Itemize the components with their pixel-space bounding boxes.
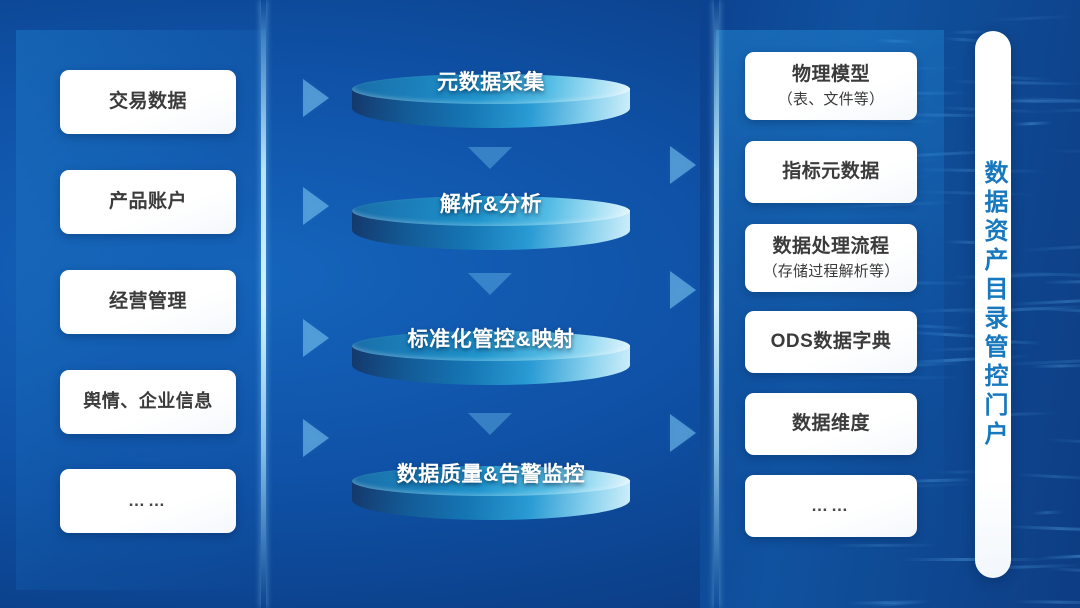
source-card-product-account[interactable]: 产品账户 <box>60 170 236 234</box>
source-card-public-opinion-enterprise-info[interactable]: 舆情、企业信息 <box>60 370 236 434</box>
pipeline-stage-parse-analyze[interactable]: 解析&分析 <box>352 196 630 252</box>
asset-card-title: 数据维度 <box>792 412 870 436</box>
arrow-right-icon <box>303 419 329 457</box>
asset-card-title: …… <box>811 495 851 517</box>
source-card-transaction-data[interactable]: 交易数据 <box>60 70 236 134</box>
asset-card-title: 物理模型 <box>792 63 870 87</box>
asset-card-title: 指标元数据 <box>782 160 880 184</box>
asset-card-title: ODS数据字典 <box>771 330 892 354</box>
arrow-right-icon <box>303 79 329 117</box>
asset-card-data-dimension[interactable]: 数据维度 <box>745 393 917 455</box>
pipeline-stage-label: 标准化管控&映射 <box>352 323 630 353</box>
asset-card-physical-model[interactable]: 物理模型 （表、文件等） <box>745 52 917 120</box>
diagram-canvas: 交易数据 产品账户 经营管理 舆情、企业信息 …… 元数据采集 解析&分析 标准… <box>0 0 1080 608</box>
pipeline-stage-label: 解析&分析 <box>352 188 630 218</box>
divider-rail-right <box>714 0 719 608</box>
source-card-title: 产品账户 <box>109 190 187 214</box>
pipeline-stage-metadata-collection[interactable]: 元数据采集 <box>352 74 630 130</box>
source-card-title: …… <box>128 490 168 512</box>
pipeline-stage-label: 元数据采集 <box>352 66 630 96</box>
asset-card-title: 数据处理流程 <box>772 235 889 259</box>
arrow-down-icon <box>468 147 512 169</box>
pipeline-stage-data-quality-alert-monitoring[interactable]: 数据质量&告警监控 <box>352 466 630 522</box>
asset-card-ods-data-dictionary[interactable]: ODS数据字典 <box>745 311 917 373</box>
arrow-right-icon <box>670 146 696 184</box>
source-card-title: 交易数据 <box>109 90 187 114</box>
arrow-right-icon <box>303 319 329 357</box>
asset-card-data-processing-flow[interactable]: 数据处理流程 （存储过程解析等） <box>745 224 917 292</box>
arrow-down-icon <box>468 273 512 295</box>
pipeline-stage-standardization-mapping[interactable]: 标准化管控&映射 <box>352 331 630 387</box>
asset-card-indicator-metadata[interactable]: 指标元数据 <box>745 141 917 203</box>
asset-card-subtitle: （存储过程解析等） <box>763 262 900 281</box>
asset-card-more[interactable]: …… <box>745 475 917 537</box>
source-card-business-management[interactable]: 经营管理 <box>60 270 236 334</box>
divider-rail-left <box>261 0 266 608</box>
source-card-title: 经营管理 <box>109 290 187 314</box>
arrow-down-icon <box>468 413 512 435</box>
pipeline-stage-label: 数据质量&告警监控 <box>352 458 630 488</box>
source-card-title: 舆情、企业信息 <box>83 390 213 413</box>
arrow-right-icon <box>670 271 696 309</box>
portal-banner[interactable]: 数据资产目录管控门户 <box>975 31 1011 578</box>
asset-card-subtitle: （表、文件等） <box>778 90 884 109</box>
arrow-right-icon <box>670 414 696 452</box>
source-card-more[interactable]: …… <box>60 469 236 533</box>
portal-banner-label: 数据资产目录管控门户 <box>981 160 1005 450</box>
arrow-right-icon <box>303 187 329 225</box>
